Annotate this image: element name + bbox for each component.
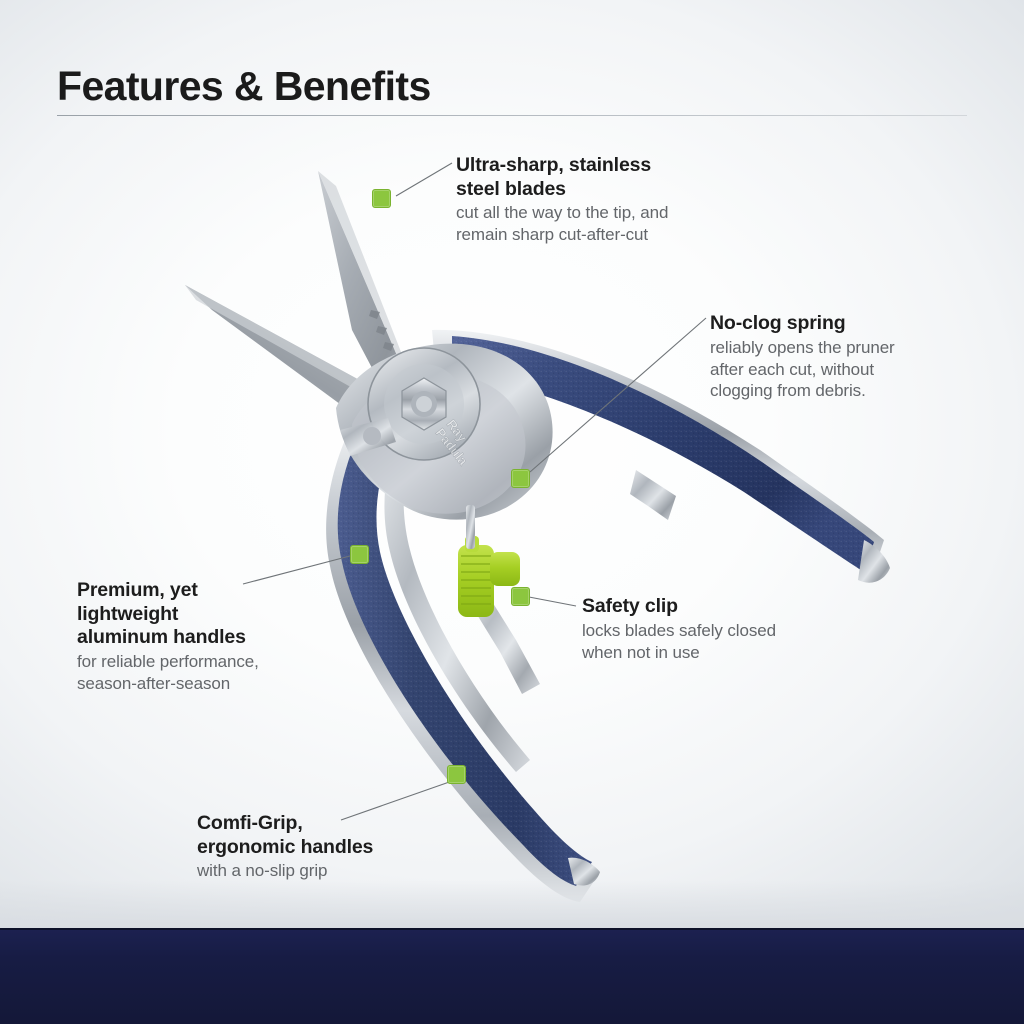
callout-grip-body: with a no-slip grip: [197, 860, 477, 882]
callout-grip-heading: Comfi-Grip, ergonomic handles: [197, 812, 477, 859]
callout-aluminum: Premium, yet lightweight aluminum handle…: [77, 579, 337, 695]
callout-safety-body: locks blades safely closed when not in u…: [582, 620, 862, 664]
callout-safety: Safety clip locks blades safely closed w…: [582, 595, 862, 663]
callout-spring: No-clog spring reliably opens the pruner…: [710, 312, 1000, 402]
callout-spring-body: reliably opens the pruner after each cut…: [710, 337, 1000, 403]
callout-grip: Comfi-Grip, ergonomic handles with a no-…: [197, 812, 477, 882]
callout-safety-heading: Safety clip: [582, 595, 862, 619]
callout-blades-body: cut all the way to the tip, and remain s…: [456, 202, 756, 246]
callout-marker-spring[interactable]: [511, 469, 530, 488]
callout-aluminum-heading: Premium, yet lightweight aluminum handle…: [77, 579, 337, 650]
footer-fade: [0, 880, 1024, 928]
infographic-page: Features & Benefits: [0, 0, 1024, 1024]
callout-marker-grip[interactable]: [447, 765, 466, 784]
callout-marker-safety[interactable]: [511, 587, 530, 606]
callout-marker-blades[interactable]: [372, 189, 391, 208]
callout-marker-aluminum[interactable]: [350, 545, 369, 564]
callout-aluminum-body: for reliable performance, season-after-s…: [77, 651, 337, 695]
callout-blades: Ultra-sharp, stainless steel blades cut …: [456, 154, 756, 246]
callout-spring-heading: No-clog spring: [710, 312, 1000, 336]
footer-band: [0, 928, 1024, 1024]
callout-blades-heading: Ultra-sharp, stainless steel blades: [456, 154, 756, 201]
